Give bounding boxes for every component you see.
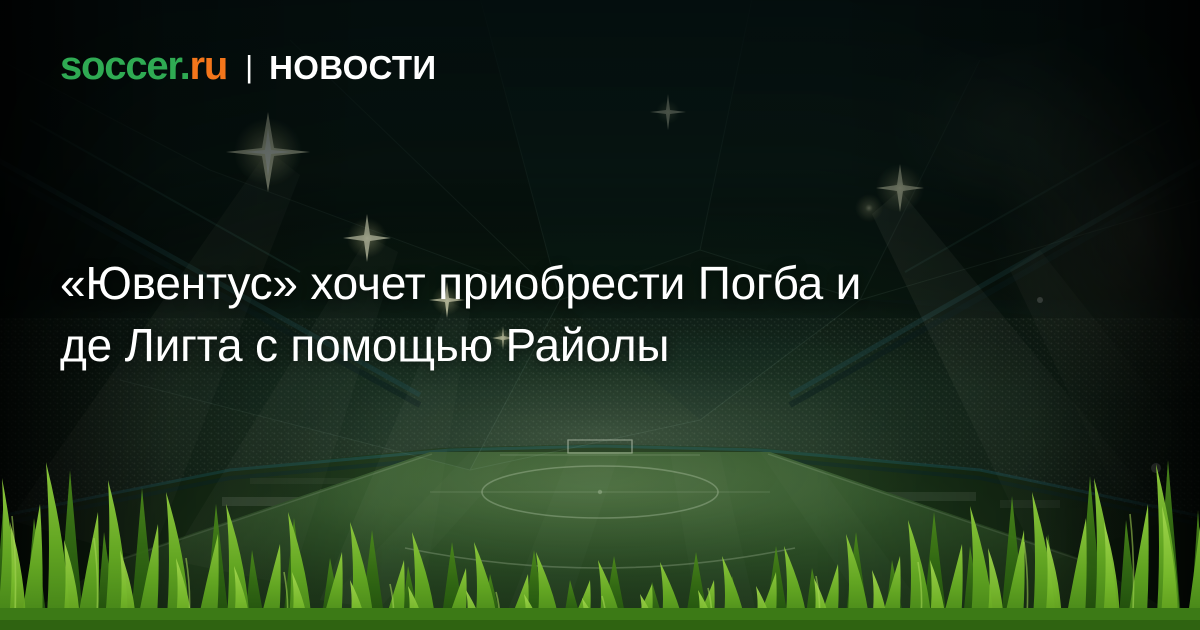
section-label-novosti: НОВОСТИ [269, 51, 436, 84]
headline-line-2: де Лигта с помощью Райолы [60, 314, 1160, 376]
foreground-grass [0, 400, 1200, 630]
header-divider: | [245, 51, 253, 82]
headline-line-1: «Ювентус» хочет приобрести Погба и [60, 252, 1160, 314]
logo-name-part: soccer [60, 44, 180, 88]
share-card: soccer.ru | НОВОСТИ «Ювентус» хочет прио… [0, 0, 1200, 630]
soccer-ru-logo[interactable]: soccer.ru [60, 46, 227, 86]
site-header: soccer.ru | НОВОСТИ [60, 46, 436, 86]
article-headline: «Ювентус» хочет приобрести Погба и де Ли… [60, 252, 1160, 376]
logo-tld-part: ru [190, 44, 228, 88]
logo-dot-part: . [180, 44, 190, 88]
